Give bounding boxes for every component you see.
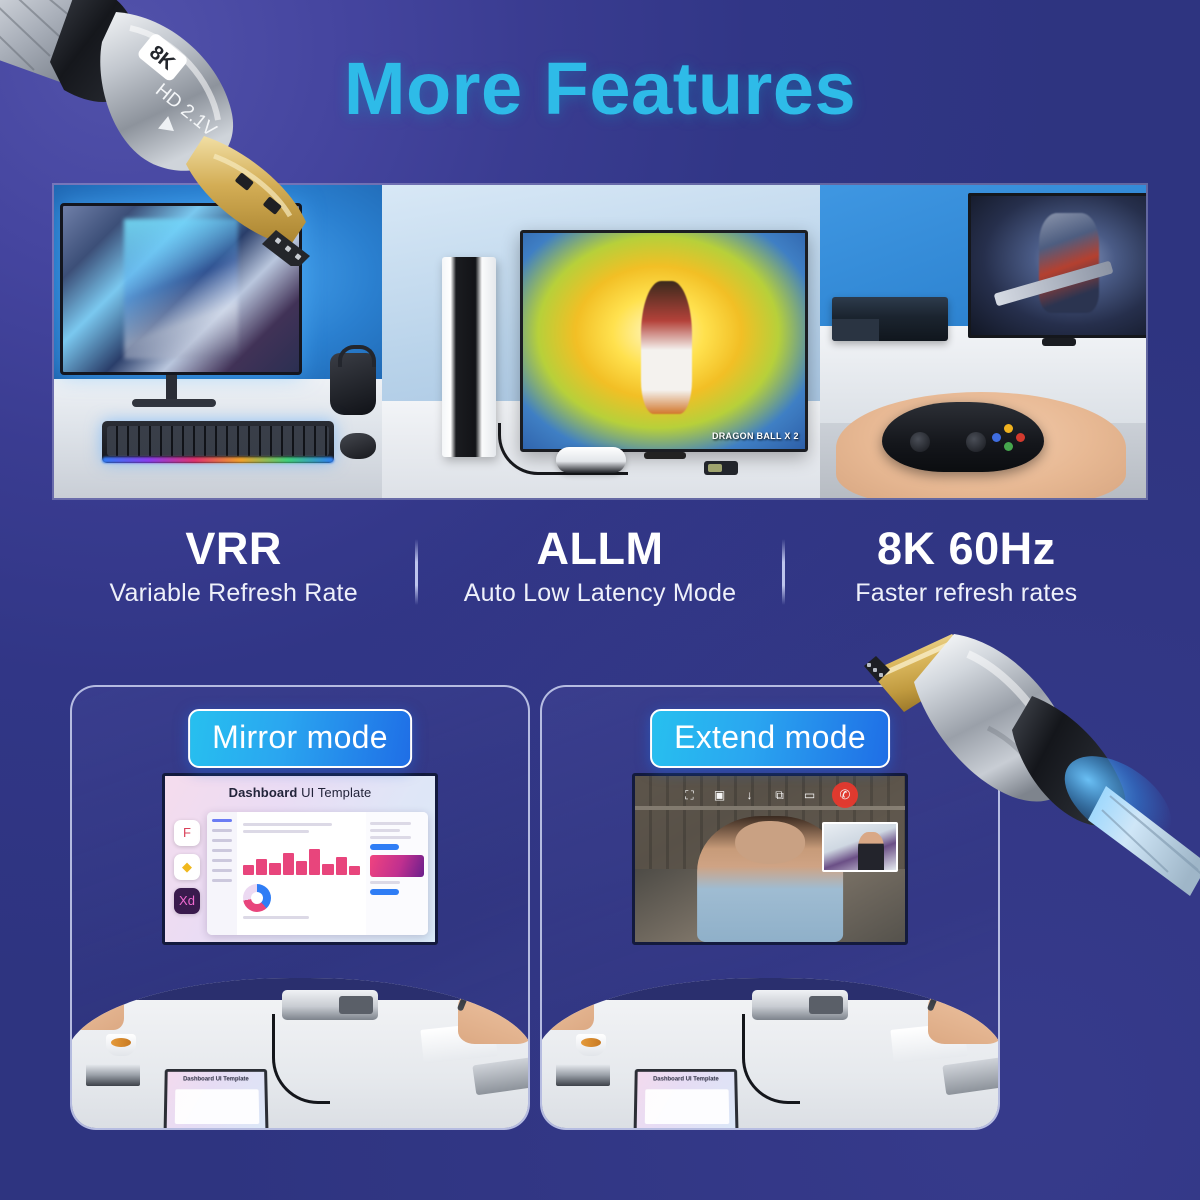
sidebar-item: [212, 879, 232, 882]
mirror-mode-badge[interactable]: Mirror mode: [188, 709, 412, 768]
primary-button: [370, 889, 399, 895]
headset-stand-icon: [330, 353, 376, 415]
donut-chart: [243, 884, 271, 912]
xbox-console: [832, 297, 948, 341]
figma-icon: F: [174, 820, 200, 846]
placeholder-line: [243, 916, 309, 919]
dashboard-title-rest: UI Template: [297, 785, 371, 800]
hdmi-cable: [272, 1014, 330, 1104]
monitor-stand-neck: [166, 375, 177, 401]
sidebar-item: [212, 839, 232, 842]
external-display-screen: Dashboard UI Template F ◆ Xd: [162, 773, 438, 945]
laptop-screen-title: Dashboard UI Template: [167, 1077, 264, 1083]
right-stick: [966, 432, 986, 452]
dashboard-sidebar: [207, 812, 237, 935]
bar: [283, 853, 294, 875]
app-icon-list: F ◆ Xd: [174, 820, 200, 922]
sidebar-item: [212, 859, 232, 862]
dashboard-mockup: Dashboard UI Template F ◆ Xd: [165, 776, 435, 942]
playstation-console: [442, 257, 496, 457]
bar: [269, 863, 280, 875]
playstation-tv-photo: DRAGON BALL X 2: [382, 185, 820, 498]
tv-stand: [644, 452, 686, 459]
feature-subtitle: Variable Refresh Rate: [52, 579, 415, 608]
laptop: Dashboard UI Template: [621, 1069, 741, 1128]
camera-icon[interactable]: ▣: [712, 788, 727, 803]
feature-allm: ALLM Auto Low Latency Mode: [418, 525, 781, 608]
placeholder-line: [243, 823, 332, 826]
coffee-cup: [106, 1034, 136, 1056]
notebook: [86, 1064, 140, 1086]
microphone-icon[interactable]: ↓: [742, 788, 757, 803]
bar: [296, 861, 307, 875]
hdmi-plug: [704, 461, 738, 475]
media-thumbnail: [370, 855, 424, 877]
primary-button: [370, 844, 399, 850]
dashboard-title: Dashboard UI Template: [165, 785, 435, 800]
page-title: More Features: [0, 46, 1200, 131]
feature-title: ALLM: [418, 525, 781, 573]
desk-surface: Dashboard UI Template: [72, 978, 528, 1128]
desk-surface: Dashboard UI Template: [542, 978, 998, 1128]
chat-icon[interactable]: ▭: [802, 788, 817, 803]
gaming-mouse: [340, 433, 376, 459]
feature-subtitle: Faster refresh rates: [785, 579, 1148, 608]
extend-mode-badge[interactable]: Extend mode: [650, 709, 890, 768]
keyboard-rgb-glow: [102, 457, 334, 463]
placeholder-line: [243, 830, 309, 833]
bar-chart: [243, 845, 360, 875]
placeholder-line: [370, 829, 400, 832]
second-laptop: [942, 1055, 998, 1096]
bar: [256, 859, 267, 875]
bar: [243, 865, 254, 875]
laptop-screen-content: [175, 1089, 259, 1124]
feature-subtitle: Auto Low Latency Mode: [418, 579, 781, 608]
extend-desk-scene: Dashboard UI Template: [542, 978, 998, 1128]
dualsense-controller: [556, 447, 626, 473]
hand-with-pen: [928, 986, 998, 1044]
adobe-xd-icon: Xd: [174, 888, 200, 914]
laptop-screen-title: Dashboard UI Template: [637, 1077, 734, 1083]
hdmi-connector-bottom: [856, 620, 1200, 920]
hand-with-phone: [542, 978, 594, 1030]
dashboard-main: [237, 812, 366, 935]
placeholder-line: [370, 881, 400, 884]
laptop: Dashboard UI Template: [151, 1069, 271, 1128]
hdmi-cable: [742, 1014, 800, 1104]
game-character: [1039, 213, 1100, 313]
bar: [309, 849, 320, 875]
feature-8k60hz: 8K 60Hz Faster refresh rates: [785, 525, 1148, 608]
mirror-desk-scene: Dashboard UI Template: [72, 978, 528, 1128]
feature-vrr: VRR Variable Refresh Rate: [52, 525, 415, 608]
sidebar-item: [212, 849, 232, 852]
coffee-cup: [576, 1034, 606, 1056]
game-controller: [882, 402, 1044, 472]
sidebar-item: [212, 829, 232, 832]
bar: [349, 866, 360, 875]
tv-stand: [1042, 338, 1076, 346]
laptop-screen-content: [645, 1089, 729, 1124]
notebook: [556, 1064, 610, 1086]
feature-title: VRR: [52, 525, 415, 573]
laptop-screen: Dashboard UI Template: [164, 1069, 269, 1128]
monitor-stand-base: [132, 399, 216, 407]
dashboard-title-bold: Dashboard: [229, 785, 298, 800]
mirror-mode-panel: Mirror mode Dashboard UI Template F ◆ Xd: [70, 685, 530, 1130]
bar: [322, 864, 333, 875]
hand-with-pen: [458, 986, 528, 1044]
laptop-screen: Dashboard UI Template: [634, 1069, 739, 1128]
end-call-icon[interactable]: ✆: [832, 782, 858, 808]
feature-title: 8K 60Hz: [785, 525, 1148, 573]
fullscreen-icon[interactable]: ⛶: [682, 788, 697, 803]
placeholder-line: [370, 822, 411, 825]
sidebar-item: [212, 869, 232, 872]
game-logo: DRAGON BALL X 2: [712, 431, 799, 441]
sketch-icon: ◆: [174, 854, 200, 880]
face-buttons: [992, 424, 1026, 450]
second-laptop: [472, 1055, 528, 1096]
dashboard-right-rail: [366, 812, 428, 935]
television: DRAGON BALL X 2: [520, 230, 808, 452]
bar: [336, 857, 347, 875]
game-character: [641, 281, 692, 415]
placeholder-line: [370, 836, 411, 839]
television: [968, 193, 1146, 338]
xbox-tv-photo: [820, 185, 1146, 498]
dashboard-window: [207, 812, 428, 935]
hdmi-connector-top: 8K HD 2.1V: [0, 0, 430, 266]
feature-row: VRR Variable Refresh Rate ALLM Auto Low …: [52, 525, 1148, 635]
sidebar-item: [212, 819, 232, 822]
screen-share-icon[interactable]: ⧉: [772, 788, 787, 803]
left-stick: [910, 432, 930, 452]
hand-with-phone: [72, 978, 124, 1030]
